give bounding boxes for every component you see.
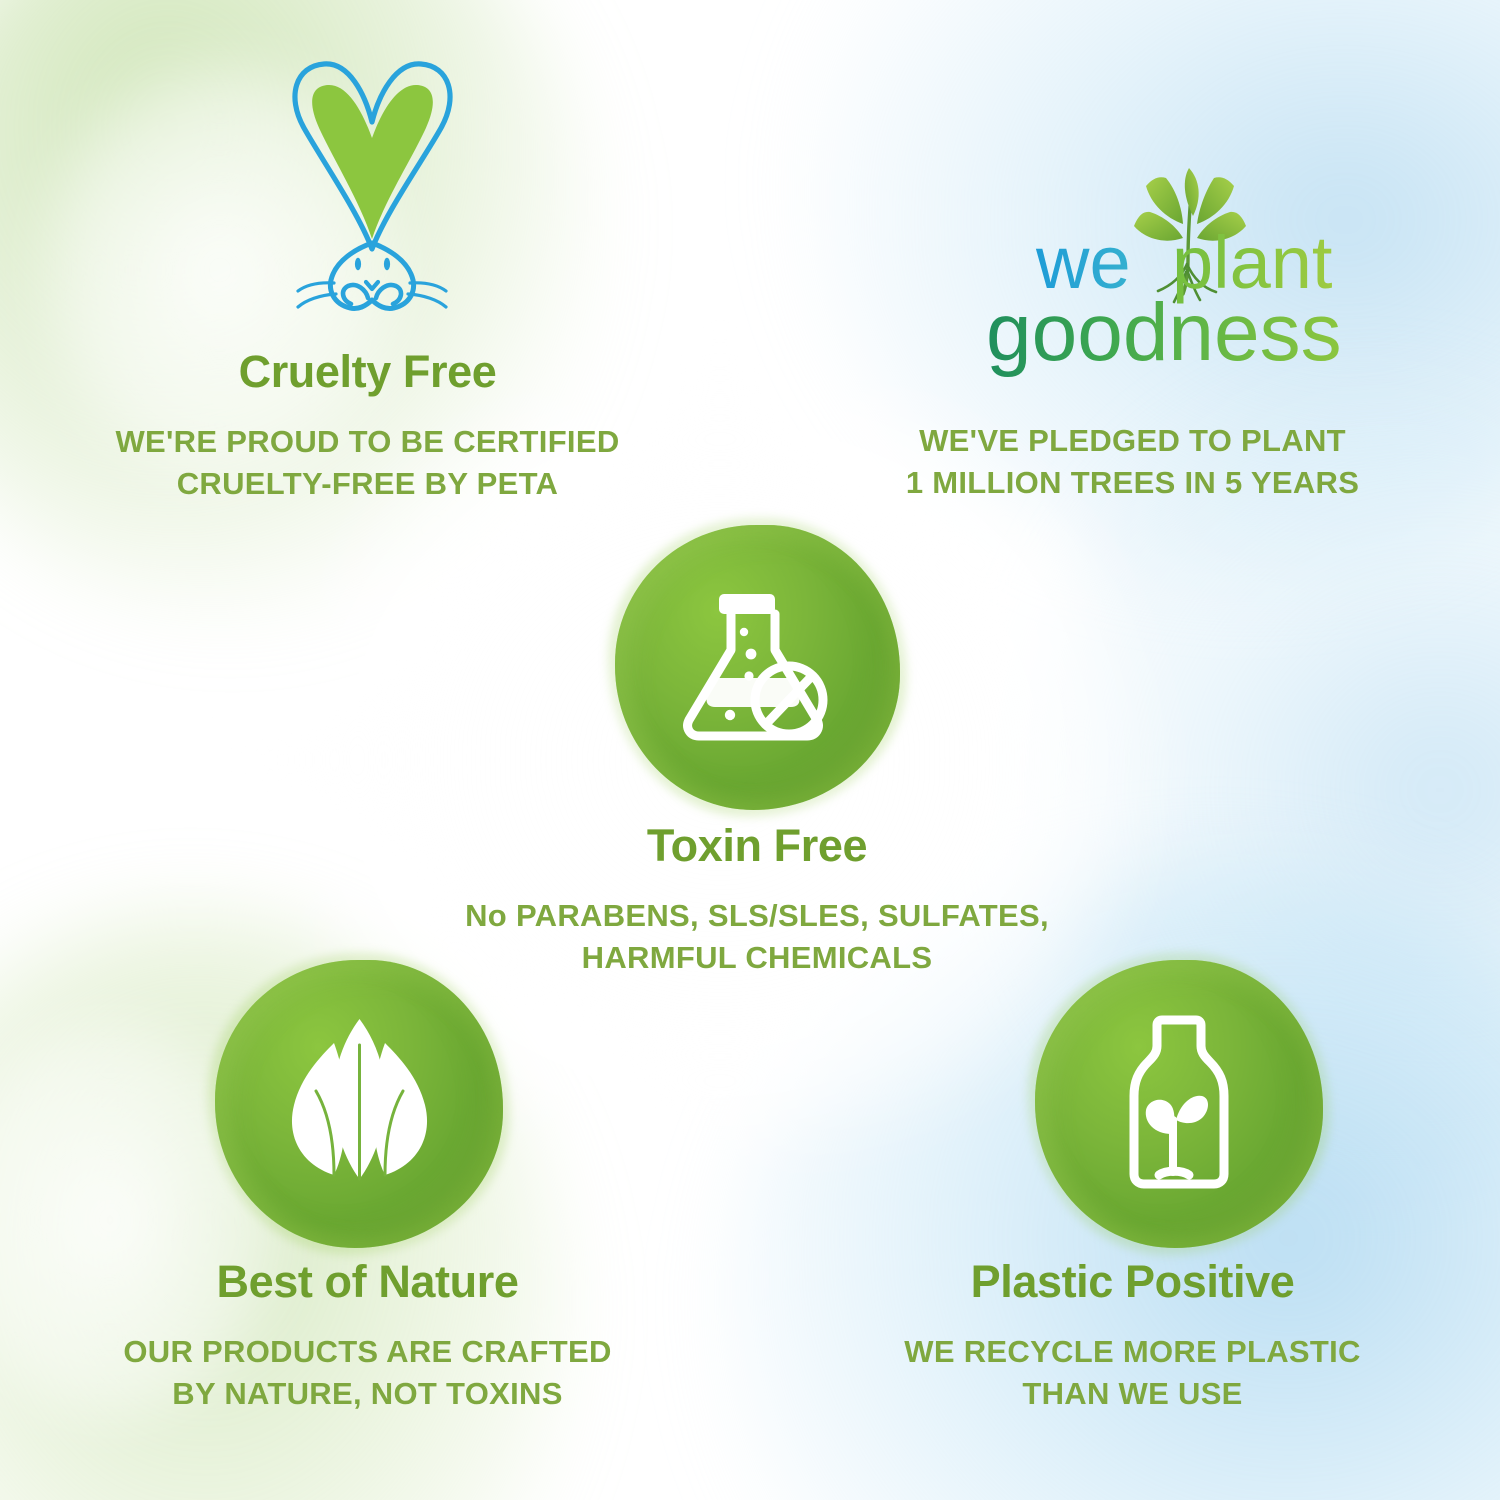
desc-line: OUR PRODUCTS ARE CRAFTED <box>0 1331 735 1373</box>
desc-line: 1 MILLION TREES IN 5 YEARS <box>765 462 1500 504</box>
flask-no-entry-icon <box>673 588 843 748</box>
badge-description-cruelty-free: WE'RE PROUD TO BE CERTIFIED CRUELTY-FREE… <box>0 421 735 504</box>
flask-bubble <box>739 627 747 635</box>
desc-line: BY NATURE, NOT TOXINS <box>0 1373 735 1415</box>
bunny-whisker-l2 <box>298 294 336 307</box>
infographic-canvas: Cruelty Free WE'RE PROUD TO BE CERTIFIED… <box>0 0 1500 1500</box>
badge-cruelty-free-text: Cruelty Free WE'RE PROUD TO BE CERTIFIED… <box>0 348 735 504</box>
desc-line: CRUELTY-FREE BY PETA <box>0 463 735 505</box>
three-leaves-icon <box>272 1019 447 1189</box>
logo-word-goodness: goodness <box>986 287 1342 378</box>
bunny-cheek-right <box>376 285 401 304</box>
bunny-eye-left <box>355 258 361 270</box>
badge-toxin-free-text: Toxin Free No PARABENS, SLS/SLES, SULFAT… <box>382 822 1132 978</box>
badge-heading-best-of-nature: Best of Nature <box>0 1258 735 1305</box>
badge-description-we-plant-goodness: WE'VE PLEDGED TO PLANT 1 MILLION TREES I… <box>765 420 1500 503</box>
plastic-positive-badge-disc <box>1035 960 1323 1248</box>
peta-bunny-logo <box>248 52 498 317</box>
badge-heading-cruelty-free: Cruelty Free <box>0 348 735 395</box>
heart-fill <box>312 85 433 239</box>
desc-line: THAN WE USE <box>765 1373 1500 1415</box>
desc-line: WE'VE PLEDGED TO PLANT <box>765 420 1500 462</box>
badge-heading-plastic-positive: Plastic Positive <box>765 1258 1500 1305</box>
toxin-free-badge-disc <box>615 525 900 810</box>
sprout-base <box>1159 1171 1189 1175</box>
bunny-whisker-r2 <box>408 294 446 307</box>
badge-best-of-nature-text: Best of Nature OUR PRODUCTS ARE CRAFTED … <box>0 1258 735 1414</box>
bunny-eye-right <box>384 258 390 270</box>
bottle-sprout-icon <box>1104 1012 1254 1197</box>
sprout-leaf-center <box>1185 168 1199 216</box>
badge-heading-toxin-free: Toxin Free <box>382 822 1132 869</box>
sprout-leaf-left <box>1146 1099 1175 1133</box>
badge-plastic-positive-text: Plastic Positive WE RECYCLE MORE PLASTIC… <box>765 1258 1500 1414</box>
flask-bubble <box>744 671 753 680</box>
bunny-nose <box>366 282 378 289</box>
desc-line: WE'RE PROUD TO BE CERTIFIED <box>0 421 735 463</box>
peta-bunny-svg <box>248 52 498 312</box>
desc-line: WE RECYCLE MORE PLASTIC <box>765 1331 1500 1373</box>
sprout-leaf-right <box>1176 1095 1208 1122</box>
badge-description-plastic-positive: WE RECYCLE MORE PLASTIC THAN WE USE <box>765 1331 1500 1414</box>
desc-line: No PARABENS, SLS/SLES, SULFATES, <box>382 895 1132 937</box>
flask-cap <box>719 594 775 614</box>
bunny-cheek-left <box>343 285 368 304</box>
flask-bubble <box>745 648 756 659</box>
badge-description-best-of-nature: OUR PRODUCTS ARE CRAFTED BY NATURE, NOT … <box>0 1331 735 1414</box>
best-of-nature-badge-disc <box>215 960 503 1248</box>
badge-we-plant-goodness-text: WE'VE PLEDGED TO PLANT 1 MILLION TREES I… <box>765 420 1500 503</box>
flask-bubble <box>724 709 734 719</box>
we-plant-goodness-logo: we plant goodness <box>978 160 1398 385</box>
bottle-outline <box>1134 1020 1224 1184</box>
we-plant-goodness-svg: we plant goodness <box>978 160 1398 380</box>
